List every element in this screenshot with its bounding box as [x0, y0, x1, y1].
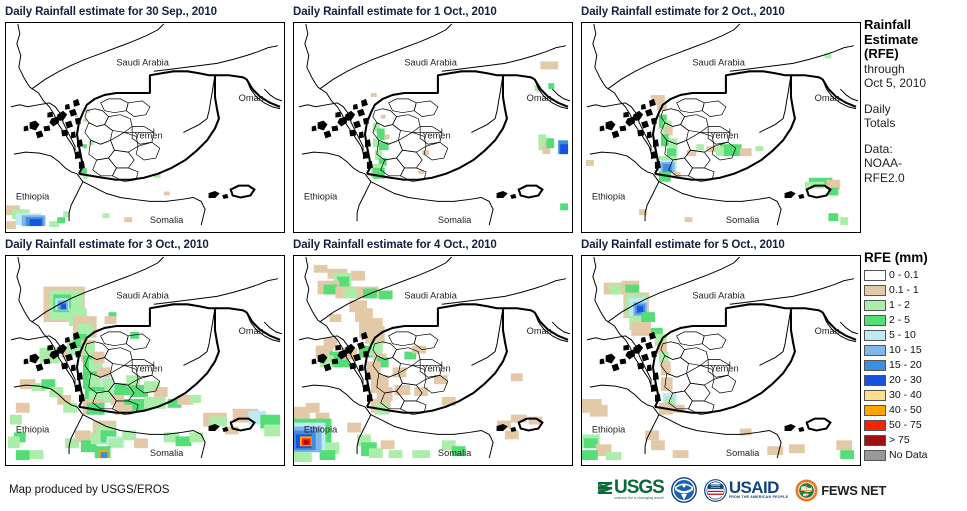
- legend-item: > 75: [864, 433, 967, 447]
- sidebar-data-line2: NOAA-: [864, 156, 967, 171]
- legend-swatch: [864, 390, 886, 401]
- legend-swatch: [864, 420, 886, 431]
- map-panel-6[interactable]: Daily Rainfall estimate for 5 Oct., 2010: [581, 239, 785, 251]
- legend-label: 1 - 2: [889, 299, 910, 311]
- legend-item: 50 - 75: [864, 418, 967, 432]
- label-yemen: Yemen: [422, 363, 450, 373]
- rfe-map-4: Saudi Arabia Oman Yemen Ethiopia Somalia: [6, 256, 282, 463]
- usgs-wave-icon: [597, 480, 613, 500]
- label-oman: Oman: [239, 93, 264, 103]
- label-saudi-arabia: Saudi Arabia: [116, 290, 169, 300]
- label-ethiopia: Ethiopia: [304, 424, 338, 434]
- map-panel-4[interactable]: Daily Rainfall estimate for 3 Oct., 2010: [5, 239, 209, 251]
- panel-map-canvas[interactable]: Saudi Arabia Oman Yemen Ethiopia Somalia: [5, 255, 285, 466]
- label-somalia: Somalia: [150, 448, 184, 458]
- legend-swatch: [864, 330, 886, 341]
- label-saudi-arabia: Saudi Arabia: [404, 290, 457, 300]
- label-somalia: Somalia: [726, 448, 760, 458]
- map-panel-3[interactable]: Daily Rainfall estimate for 2 Oct., 2010: [581, 6, 785, 18]
- legend-label: 50 - 75: [889, 419, 922, 431]
- map-panel-1[interactable]: Daily Rainfall estimate for 30 Sep., 201…: [5, 6, 217, 18]
- rfe-legend: RFE (mm) 0 - 0.10.1 - 11 - 22 - 55 - 101…: [864, 250, 967, 463]
- legend-swatch: [864, 375, 886, 386]
- legend-item: No Data: [864, 448, 967, 462]
- noaa-logo[interactable]: [671, 477, 697, 503]
- panel-grid: Daily Rainfall estimate for 30 Sep., 201…: [0, 0, 860, 470]
- legend-item: 2 - 5: [864, 313, 967, 327]
- legend-item: 0.1 - 1: [864, 283, 967, 297]
- legend-swatch: [864, 285, 886, 296]
- legend-label: 15 - 20: [889, 359, 922, 371]
- label-oman: Oman: [527, 326, 552, 336]
- rfe-map-1: Saudi Arabia Oman Yemen Ethiopia Somalia: [6, 23, 282, 230]
- legend-rows: 0 - 0.10.1 - 11 - 22 - 55 - 1010 - 1515 …: [864, 268, 967, 462]
- legend-item: 30 - 40: [864, 388, 967, 402]
- label-oman: Oman: [815, 93, 840, 103]
- label-yemen: Yemen: [134, 130, 162, 140]
- usaid-seal-icon: [704, 479, 727, 502]
- label-saudi-arabia: Saudi Arabia: [404, 57, 457, 67]
- panel-map-canvas[interactable]: Saudi Arabia Oman Yemen Ethiopia Somalia: [581, 22, 861, 233]
- label-somalia: Somalia: [150, 215, 184, 225]
- label-yemen: Yemen: [710, 130, 738, 140]
- fews-globe-icon: [795, 479, 818, 502]
- panel-title: Daily Rainfall estimate for 5 Oct., 2010: [581, 239, 785, 251]
- rfe-map-6: Saudi Arabia Oman Yemen Ethiopia Somalia: [582, 256, 858, 463]
- panel-title: Daily Rainfall estimate for 4 Oct., 2010: [293, 239, 497, 251]
- label-saudi-arabia: Saudi Arabia: [692, 290, 745, 300]
- label-oman: Oman: [239, 326, 264, 336]
- usgs-logo[interactable]: USGS science for a changing world: [597, 480, 664, 500]
- label-yemen: Yemen: [134, 363, 162, 373]
- sidebar-data-line1: Data:: [864, 142, 967, 157]
- rfe-map-2: Saudi Arabia Oman Yemen Ethiopia Somalia: [294, 23, 570, 230]
- label-ethiopia: Ethiopia: [16, 424, 50, 434]
- legend-item: 40 - 50: [864, 403, 967, 417]
- label-saudi-arabia: Saudi Arabia: [116, 57, 169, 67]
- usaid-logo[interactable]: USAID FROM THE AMERICAN PEOPLE: [704, 479, 788, 502]
- label-yemen: Yemen: [422, 130, 450, 140]
- usgs-wordmark: USGS: [614, 480, 664, 496]
- usaid-tagline: FROM THE AMERICAN PEOPLE: [729, 495, 788, 499]
- panel-title: Daily Rainfall estimate for 30 Sep., 201…: [5, 6, 217, 18]
- usaid-wordmark: USAID: [729, 481, 788, 495]
- legend-label: 0 - 0.1: [889, 269, 919, 281]
- rfe-map-5: Saudi Arabia Oman Yemen Ethiopia Somalia: [294, 256, 570, 463]
- map-panel-2[interactable]: Daily Rainfall estimate for 1 Oct., 2010: [293, 6, 497, 18]
- panel-map-canvas[interactable]: Saudi Arabia Oman Yemen Ethiopia Somalia: [5, 22, 285, 233]
- legend-swatch: [864, 450, 886, 461]
- legend-label: 10 - 15: [889, 344, 922, 356]
- panel-title: Daily Rainfall estimate for 2 Oct., 2010: [581, 6, 785, 18]
- label-saudi-arabia: Saudi Arabia: [692, 57, 745, 67]
- label-oman: Oman: [815, 326, 840, 336]
- legend-swatch: [864, 345, 886, 356]
- legend-swatch: [864, 360, 886, 371]
- sidebar-through-date: Oct 5, 2010: [864, 76, 967, 91]
- label-ethiopia: Ethiopia: [592, 191, 626, 201]
- sidebar-totals-line1: Daily: [864, 102, 967, 117]
- sidebar-data-line3: RFE2.0: [864, 171, 967, 186]
- label-yemen: Yemen: [710, 363, 738, 373]
- rfe-map-3: Saudi Arabia Oman Yemen Ethiopia Somalia: [582, 23, 858, 230]
- label-ethiopia: Ethiopia: [592, 424, 626, 434]
- sidebar-title-line2: Estimate: [864, 33, 967, 48]
- legend-item: 20 - 30: [864, 373, 967, 387]
- legend-swatch: [864, 315, 886, 326]
- legend-swatch: [864, 405, 886, 416]
- panel-title: Daily Rainfall estimate for 3 Oct., 2010: [5, 239, 209, 251]
- label-somalia: Somalia: [726, 215, 760, 225]
- agency-logos: USGS science for a changing world USAID …: [597, 477, 886, 503]
- map-credit: Map produced by USGS/EROS: [9, 484, 169, 496]
- legend-item: 5 - 10: [864, 328, 967, 342]
- legend-item: 0 - 0.1: [864, 268, 967, 282]
- label-oman: Oman: [527, 93, 552, 103]
- panel-map-canvas[interactable]: Saudi Arabia Oman Yemen Ethiopia Somalia: [293, 255, 573, 466]
- panel-map-canvas[interactable]: Saudi Arabia Oman Yemen Ethiopia Somalia: [293, 22, 573, 233]
- sidebar-through: through: [864, 62, 967, 77]
- fews-net-logo[interactable]: FEWS NET: [795, 479, 886, 502]
- panel-title: Daily Rainfall estimate for 1 Oct., 2010: [293, 6, 497, 18]
- fews-net-wordmark: FEWS NET: [821, 483, 886, 498]
- panel-map-canvas[interactable]: Saudi Arabia Oman Yemen Ethiopia Somalia: [581, 255, 861, 466]
- sidebar-title-line1: Rainfall: [864, 18, 967, 33]
- legend-label: 40 - 50: [889, 404, 922, 416]
- legend-swatch: [864, 300, 886, 311]
- label-ethiopia: Ethiopia: [304, 191, 338, 201]
- legend-label: 2 - 5: [889, 314, 910, 326]
- legend-swatch: [864, 435, 886, 446]
- usgs-tagline: science for a changing world: [614, 496, 664, 500]
- label-somalia: Somalia: [438, 215, 472, 225]
- sidebar-title-line3: (RFE): [864, 47, 967, 62]
- legend-label: 5 - 10: [889, 329, 916, 341]
- legend-label: 0.1 - 1: [889, 284, 919, 296]
- map-panel-5[interactable]: Daily Rainfall estimate for 4 Oct., 2010: [293, 239, 497, 251]
- legend-item: 15 - 20: [864, 358, 967, 372]
- legend-swatch: [864, 270, 886, 281]
- label-somalia: Somalia: [438, 448, 472, 458]
- label-ethiopia: Ethiopia: [16, 191, 50, 201]
- legend-label: > 75: [889, 434, 910, 446]
- legend-item: 1 - 2: [864, 298, 967, 312]
- legend-item: 10 - 15: [864, 343, 967, 357]
- legend-title: RFE (mm): [864, 250, 967, 265]
- legend-label: 30 - 40: [889, 389, 922, 401]
- legend-label: No Data: [889, 449, 928, 461]
- legend-label: 20 - 30: [889, 374, 922, 386]
- sidebar-totals-line2: Totals: [864, 116, 967, 131]
